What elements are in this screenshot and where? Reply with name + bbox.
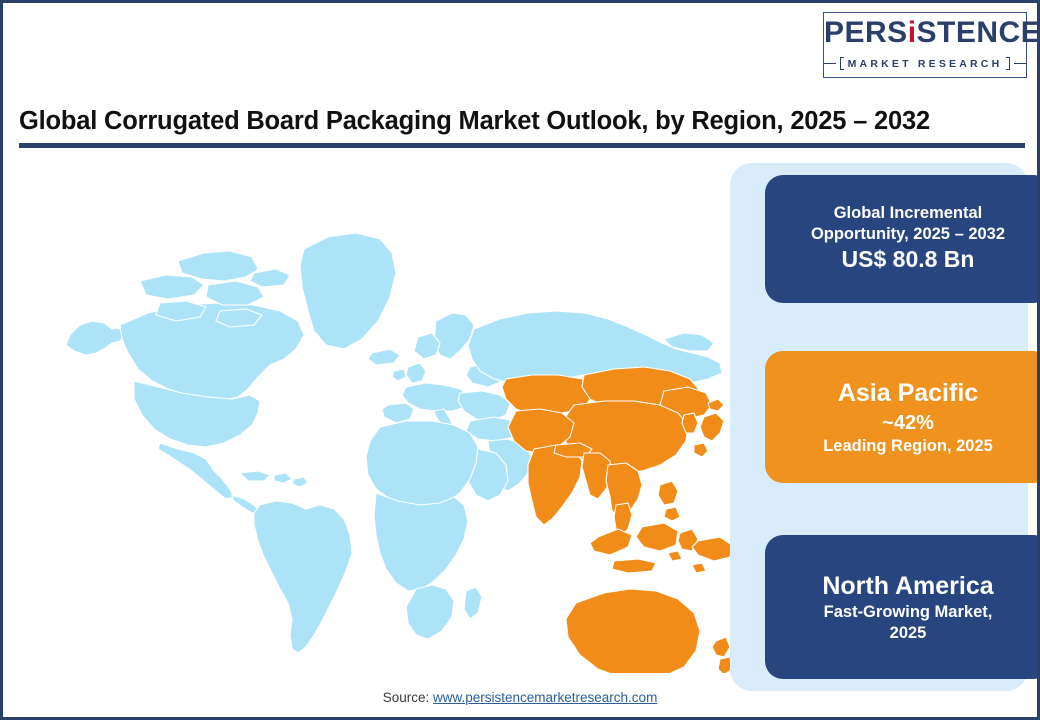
logo-rule-right-icon	[1014, 63, 1026, 65]
card2-region-name: Asia Pacific	[838, 377, 978, 410]
card3-region-name: North America	[822, 570, 993, 603]
card-global-incremental-opportunity[interactable]: Global Incremental Opportunity, 2025 – 2…	[765, 175, 1040, 303]
card3-caption-line2: 2025	[890, 623, 927, 644]
source-footer: Source: www.persistencemarketresearch.co…	[3, 690, 1037, 705]
company-logo: PERSiSTENCE MARKET RESEARCH	[823, 12, 1027, 78]
logo-tagline-row: MARKET RESEARCH	[824, 57, 1026, 70]
logo-word-part1: PERS	[824, 16, 908, 49]
page-title: Global Corrugated Board Packaging Market…	[19, 107, 1027, 136]
card-leading-region[interactable]: Asia Pacific ~42% Leading Region, 2025	[765, 351, 1040, 483]
card2-caption: Leading Region, 2025	[823, 436, 993, 457]
logo-word-i: i	[908, 16, 917, 49]
logo-bracket-right-icon	[1006, 57, 1010, 70]
card1-value: US$ 80.8 Bn	[842, 245, 975, 274]
source-link[interactable]: www.persistencemarketresearch.com	[433, 690, 657, 705]
source-label: Source:	[383, 690, 430, 705]
logo-tagline: MARKET RESEARCH	[848, 58, 1003, 70]
infographic-frame: PERSiSTENCE MARKET RESEARCH Global Corru…	[0, 0, 1040, 720]
title-divider	[19, 143, 1025, 148]
logo-wordmark: PERSiSTENCE	[824, 16, 1026, 50]
card3-caption-line1: Fast-Growing Market,	[824, 602, 993, 623]
card1-line1: Global Incremental	[834, 203, 983, 224]
world-map	[8, 153, 732, 673]
logo-rule-left-icon	[824, 63, 836, 65]
card1-line2: Opportunity, 2025 – 2032	[811, 224, 1005, 245]
logo-word-part2: STENCE	[917, 16, 1040, 49]
metrics-panel: Global Incremental Opportunity, 2025 – 2…	[730, 163, 1028, 691]
logo-bracket-left-icon	[840, 57, 844, 70]
world-map-svg	[8, 153, 732, 673]
card-fast-growing-market[interactable]: North America Fast-Growing Market, 2025	[765, 535, 1040, 679]
card2-share-value: ~42%	[882, 410, 934, 436]
